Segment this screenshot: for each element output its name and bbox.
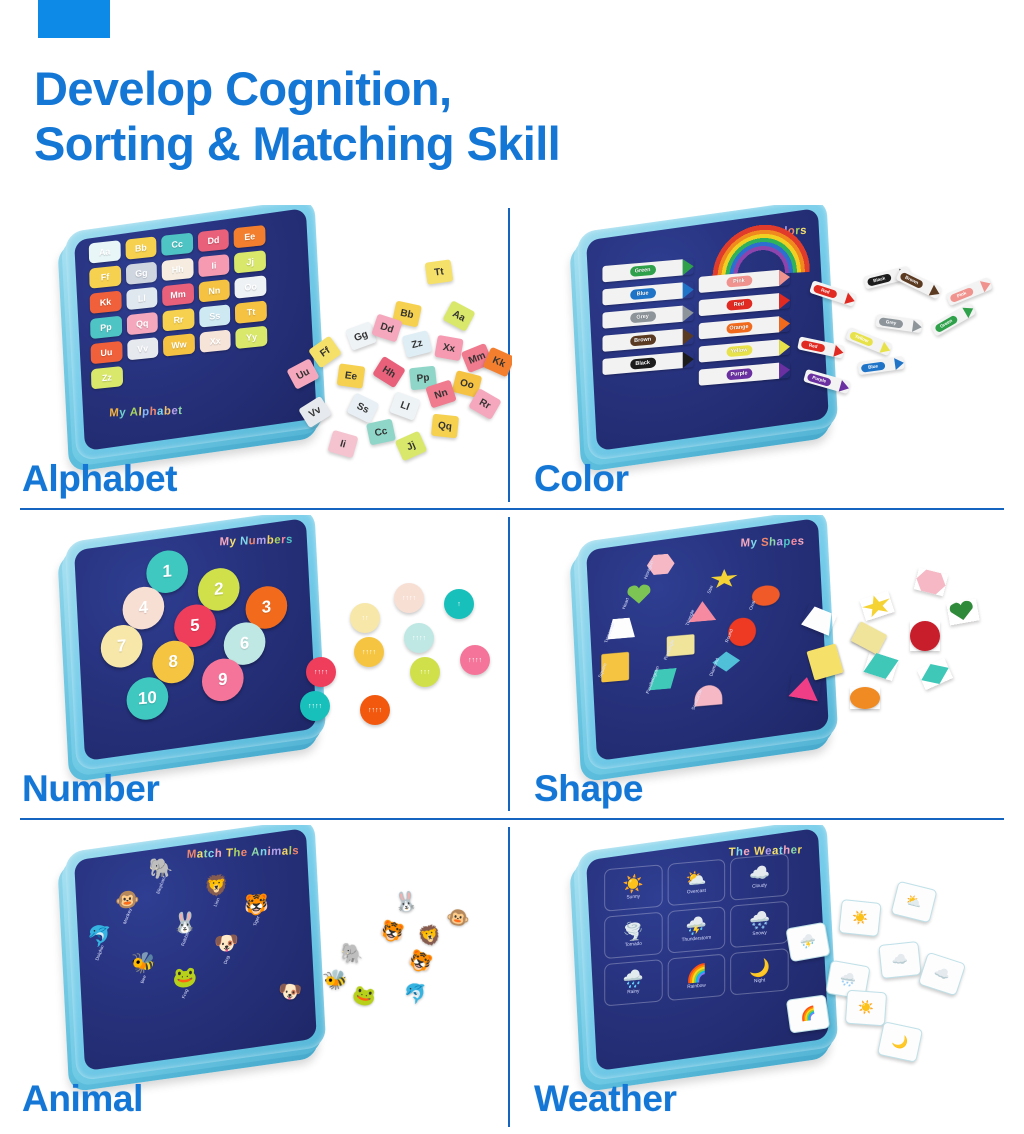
shape-heart[interactable]: Heart (625, 583, 653, 606)
weather-icon: ☀️ (623, 875, 644, 894)
alphabet-tile[interactable]: Ss (199, 304, 231, 327)
weather-icon: 🌈 (686, 964, 707, 983)
loose-letter-tile[interactable]: Ee (337, 363, 366, 388)
loose-counting-disc[interactable]: ↑↑↑↑ (404, 623, 434, 653)
loose-crayon[interactable]: Yellow (845, 327, 893, 356)
panel-caption-weather: Weather (534, 1078, 677, 1120)
crayon-label-band: Red (726, 298, 752, 310)
loose-counting-disc[interactable]: ↑↑↑↑ (354, 637, 384, 667)
alphabet-tile[interactable]: Oo (235, 275, 267, 298)
crayon-tip (894, 356, 905, 369)
panel-shape: ShapeMy ShapesHexagonStarHeartOvalTriang… (512, 515, 1024, 824)
loose-counting-disc[interactable]: ↑↑↑↑ (360, 695, 390, 725)
crayon-body: Red (699, 293, 779, 316)
title-line-2: Sorting & Matching Skill (34, 117, 814, 172)
loose-shape-piece[interactable] (851, 621, 888, 655)
crayon-black[interactable]: Black (602, 351, 693, 375)
alphabet-tile[interactable]: Uu (91, 341, 123, 364)
panel-caption-alphabet: Alphabet (22, 458, 177, 500)
crayon-body: Grey (602, 306, 682, 329)
loose-animal-piece[interactable]: 🦁 (416, 925, 443, 949)
alphabet-tile[interactable]: Ll (126, 287, 158, 310)
crayon-label-band: Blue (630, 288, 656, 300)
shape-diamond[interactable]: Diamond (712, 650, 740, 673)
weather-label: Rainy (627, 989, 639, 995)
alphabet-tile[interactable]: Ii (198, 254, 230, 277)
panel-number: NumberMy Numbers12345678910↑↑↑↑↑↑↑↑↑↑↑↑↑… (0, 515, 512, 824)
animal-frog[interactable]: 🐸Frog (173, 967, 198, 997)
crayon-tip (980, 277, 993, 291)
product-infographic: Develop Cognition, Sorting & Matching Sk… (0, 0, 1024, 1134)
crayon-label-band: Blue (861, 361, 886, 372)
weather-thunderstorm[interactable]: ⛈️Thunderstorm (667, 906, 725, 953)
panel-caption-shape: Shape (534, 768, 643, 810)
loose-letter-tile[interactable]: Ii (327, 430, 358, 458)
loose-counting-disc[interactable]: ↑↑ (350, 603, 380, 633)
alphabet-tile[interactable]: Nn (199, 279, 231, 302)
weather-icon: 🌧️ (623, 970, 644, 989)
panel-caption-color: Color (534, 458, 629, 500)
number-circle-grid: 12345678910 (95, 540, 284, 723)
loose-weather-card[interactable]: ☁️ (918, 952, 967, 997)
loose-animal-piece[interactable]: 🐯 (405, 949, 434, 975)
alphabet-tile[interactable]: Bb (125, 236, 157, 259)
weather-label: Tornado (625, 942, 642, 949)
loose-animal-piece[interactable]: 🐝 (322, 968, 350, 993)
crayon-body: Brown (602, 329, 682, 352)
weather-board: ☀️Sunny⛅Overcast☁️Cloudy🌪️Tornado⛈️Thund… (604, 853, 789, 1006)
alphabet-tile[interactable]: Tt (235, 300, 267, 323)
alphabet-tile[interactable]: Ff (89, 265, 121, 288)
crayon-label-band: Purple (807, 372, 832, 386)
alphabet-tile[interactable]: Pp (90, 316, 122, 339)
loose-letter-tile[interactable]: Ss (346, 392, 379, 423)
weather-label: Rainbow (687, 984, 706, 991)
weather-icon: ☁️ (749, 864, 770, 883)
loose-letter-tile[interactable]: Uu (286, 358, 319, 390)
alphabet-tile[interactable]: Qq (126, 312, 158, 335)
crayon-tip (683, 281, 694, 298)
alphabet-tile[interactable]: Mm (162, 283, 194, 306)
loose-letter-tile[interactable]: Hh (372, 356, 406, 388)
crayon-yellow[interactable]: Yellow (699, 339, 790, 363)
loose-crayon[interactable]: Red (797, 336, 845, 358)
animal-dog[interactable]: 🐶Dog (214, 933, 239, 963)
loose-crayon[interactable]: Green (930, 302, 976, 336)
loose-weather-card[interactable]: 🌈 (786, 994, 830, 1033)
crayon-label-band: Grey (630, 311, 656, 323)
crayon-tip (683, 351, 694, 368)
weather-tornado[interactable]: 🌪️Tornado (604, 912, 662, 959)
crayon-label-band: Grey (879, 317, 904, 328)
crayon-label-band: Orange (726, 322, 752, 334)
panel-caption-animal: Animal (22, 1078, 143, 1120)
weather-icon: 🌪️ (623, 922, 644, 941)
weather-icon: ⛅ (686, 869, 707, 888)
panel-caption-number: Number (22, 768, 159, 810)
loose-counting-disc[interactable]: ↑↑↑ (410, 657, 440, 687)
loose-letter-tile[interactable]: Qq (431, 414, 459, 439)
crayon-label-band: Green (630, 265, 656, 277)
crayon-body: Black (602, 352, 682, 375)
weather-icon: 🌨️ (749, 911, 770, 930)
crayon-purple[interactable]: Purple (699, 362, 790, 386)
loose-crayon[interactable]: Blue (857, 356, 904, 375)
weather-sunny[interactable]: ☀️Sunny (604, 864, 662, 911)
panel-animal: AnimalMatch The Animals🐘Elephant🦁Lion🐵Mo… (0, 825, 512, 1134)
alphabet-tile-grid: AaBbCcDdEeFfGgHhIiJjKkLlMmNnOoPpQqRrSsTt… (89, 225, 268, 390)
loose-pieces-weather: ⛈️☀️⛅☁️🌨️☁️🌈☀️🌙 (788, 875, 1018, 1090)
shape-board: HexagonStarHeartOvalTriangleTrapezoidRou… (601, 541, 795, 739)
alphabet-tile[interactable]: Ee (234, 225, 266, 248)
loose-animal-piece[interactable]: 🐯 (378, 920, 406, 945)
loose-weather-card[interactable]: ☁️ (878, 941, 921, 979)
crayon-tip (912, 320, 923, 333)
loose-crayon[interactable]: Brown (895, 268, 942, 300)
crayon-tip (833, 345, 844, 359)
animal-bee[interactable]: 🐝Bee (131, 952, 156, 982)
loose-shape-piece[interactable] (917, 658, 953, 690)
title-line-1: Develop Cognition, (34, 62, 451, 115)
loose-letter-tile[interactable]: Ll (389, 391, 421, 421)
animal-elephant[interactable]: 🐘Elephant (149, 858, 174, 888)
crayon-red[interactable]: Red (699, 292, 790, 316)
alphabet-tile[interactable]: Zz (91, 366, 123, 389)
alphabet-tile[interactable]: Yy (236, 326, 268, 349)
crayon-tip (962, 303, 976, 318)
alphabet-tile[interactable]: Aa (89, 240, 121, 263)
weather-rainbow[interactable]: 🌈Rainbow (667, 954, 725, 1001)
loose-letter-tile[interactable]: Vv (298, 396, 332, 428)
shape-label: Diamond (708, 657, 719, 676)
loose-weather-card[interactable]: ☀️ (845, 990, 887, 1027)
page-title: Develop Cognition, Sorting & Matching Sk… (34, 62, 814, 172)
loose-letter-tile[interactable]: Aa (442, 300, 475, 332)
weather-cloudy[interactable]: ☁️Cloudy (730, 853, 788, 900)
weather-label: Night (754, 978, 765, 984)
crayon-tip (880, 341, 893, 355)
loose-crayon[interactable]: Purple (803, 369, 851, 394)
loose-letter-tile[interactable]: Tt (425, 259, 454, 284)
feature-grid: AlphabetMy AlphabetAaBbCcDdEeFfGgHhIiJjK… (0, 205, 1024, 1134)
shape-square[interactable]: Square (601, 652, 629, 683)
crayon-body: Blue (602, 282, 682, 305)
crayon-label-band: Red (813, 284, 838, 299)
loose-animal-piece[interactable]: 🐵 (445, 907, 472, 930)
weather-label: Snowy (752, 931, 766, 937)
crayon-label-band: Black (630, 357, 656, 369)
shape-rectangle[interactable]: Rectangle (667, 634, 695, 657)
loose-pieces-number: ↑↑↑↑↑↑↑↑↑↑↑↑↑↑↑↑↑↑↑↑↑↑↑↑↑↑↑↑↑↑↑↑↑↑ (276, 565, 506, 780)
shape-triangle[interactable]: Triangle (689, 600, 717, 623)
alphabet-tile[interactable]: Hh (162, 258, 194, 281)
number-circle[interactable]: 9 (202, 657, 244, 703)
crayon-label-band: Pink (949, 286, 974, 302)
shape-star[interactable]: Star (710, 568, 738, 591)
weather-snowy[interactable]: 🌨️Snowy (730, 901, 788, 948)
loose-counting-disc[interactable]: ↑↑↑↑ (300, 691, 330, 721)
weather-rainy[interactable]: 🌧️Rainy (604, 959, 662, 1006)
crayon-label-band: Red (801, 339, 826, 352)
crayon-label-band: Yellow (849, 330, 874, 346)
alphabet-tile[interactable]: Kk (90, 291, 122, 314)
loose-shape-piece[interactable] (863, 651, 898, 681)
shape-oval[interactable]: Oval (752, 584, 780, 607)
loose-shape-piece[interactable] (806, 643, 843, 680)
crayon-tip (844, 292, 856, 306)
loose-crayon[interactable]: Grey (875, 314, 922, 333)
alphabet-tile[interactable]: Xx (199, 329, 231, 352)
crayon-body: Orange (699, 316, 779, 339)
loose-animal-piece[interactable]: 🐰 (393, 891, 419, 913)
loose-letter-tile[interactable]: Ff (308, 336, 342, 369)
crayon-label-band: Brown (899, 271, 924, 289)
shape-label: Star (706, 585, 714, 595)
shape-parallelogram[interactable]: Parallelogram (649, 668, 677, 691)
weather-overcast[interactable]: ⛅Overcast (667, 859, 725, 906)
weather-night[interactable]: 🌙Night (730, 948, 788, 995)
loose-weather-card[interactable]: ⛅ (890, 881, 937, 924)
alphabet-tile[interactable]: Gg (125, 262, 157, 285)
loose-letter-tile[interactable]: Xx (434, 335, 463, 361)
panel-alphabet: AlphabetMy AlphabetAaBbCcDdEeFfGgHhIiJjK… (0, 205, 512, 514)
loose-shape-piece[interactable] (914, 568, 948, 597)
loose-counting-disc[interactable]: ↑↑↑↑ (394, 583, 424, 613)
loose-shape-piece[interactable] (788, 675, 821, 702)
crayon-label-band: Brown (630, 334, 656, 346)
loose-shape-piece[interactable] (850, 687, 880, 709)
shape-hexagon[interactable]: Hexagon (647, 553, 675, 576)
alphabet-tile[interactable]: Rr (163, 308, 195, 331)
crayon-column: GreenBlueGreyBrownBlack (602, 258, 693, 382)
crayon-label-band: Green (934, 314, 959, 333)
weather-label: Thunderstorm (682, 936, 712, 944)
loose-counting-disc[interactable]: ↑↑↑↑ (460, 645, 490, 675)
animal-monkey[interactable]: 🐵Monkey (115, 889, 140, 919)
shape-label: Oval (748, 600, 756, 611)
animal-board: 🐘Elephant🦁Lion🐵Monkey🐯Tiger🐬Dolphin🐰Rabb… (87, 848, 285, 1052)
loose-counting-disc[interactable]: ↑ (444, 589, 474, 619)
shape-trapezoid[interactable]: Trapezoid (607, 617, 635, 640)
alphabet-tile[interactable]: Ww (163, 333, 195, 356)
animal-rabbit[interactable]: 🐰Rabbit (173, 913, 198, 943)
crayon-column: PinkRedOrangeYellowPurple (699, 269, 790, 393)
loose-animal-piece[interactable]: 🐶 (277, 982, 303, 1003)
accent-bar (38, 0, 110, 38)
shape-label: Heart (621, 597, 630, 609)
crayon-grey[interactable]: Grey (602, 305, 693, 329)
loose-shape-piece[interactable] (801, 604, 837, 636)
loose-shape-piece[interactable] (859, 591, 894, 621)
loose-pieces-shape (788, 565, 1018, 780)
crayon-label-band: Pink (726, 275, 752, 287)
weather-icon: ⛈️ (686, 917, 707, 936)
book-page-title: My Alphabet (109, 405, 183, 420)
shape-round[interactable]: Round (728, 617, 756, 648)
crayon-label-band: Black (867, 273, 892, 287)
loose-letter-tile[interactable]: Gg (345, 321, 377, 351)
alphabet-tile[interactable]: Cc (161, 233, 193, 256)
animal-tiger[interactable]: 🐯Tiger (244, 894, 269, 924)
panel-color: ColorMy ColorsGreenBlueGreyBrownBlackPin… (512, 205, 1024, 514)
alphabet-tile[interactable]: Jj (234, 250, 266, 273)
shape-semicircle[interactable]: Semicircle (695, 684, 723, 707)
loose-animal-piece[interactable]: 🐸 (350, 984, 378, 1008)
loose-animal-piece[interactable]: 🐘 (339, 943, 365, 965)
crayon-body: Green (602, 259, 682, 282)
crayon-green[interactable]: Green (602, 258, 693, 282)
loose-weather-card[interactable]: ⛈️ (785, 922, 830, 962)
crayon-label-band: Yellow (726, 345, 752, 357)
animal-dolphin[interactable]: 🐬Dolphin (87, 926, 112, 956)
crayon-tip (839, 380, 851, 394)
alphabet-tile[interactable]: Dd (198, 229, 230, 252)
loose-shape-piece[interactable] (910, 621, 940, 651)
loose-crayon[interactable]: Pink (945, 277, 993, 306)
number-circle[interactable]: 4 (123, 585, 165, 631)
loose-pieces-alphabet: TtBbAaGgDdFfZzXxMmKkUuEeHhPpOoNnLlVvSsCc… (276, 255, 506, 470)
loose-weather-card[interactable]: ☀️ (838, 899, 881, 937)
crayon-tip (929, 284, 942, 299)
crayon-tip (683, 305, 694, 322)
weather-icon: 🌙 (749, 959, 770, 978)
crayon-body: Yellow (699, 339, 779, 362)
weather-label: Overcast (687, 889, 706, 896)
panel-weather: WeatherThe Weather☀️Sunny⛅Overcast☁️Clou… (512, 825, 1024, 1134)
weather-label: Sunny (627, 894, 640, 900)
weather-label: Cloudy (752, 883, 767, 889)
loose-letter-tile[interactable]: Cc (366, 419, 396, 446)
number-circle[interactable]: 10 (127, 676, 169, 722)
number-circle[interactable]: 7 (101, 623, 143, 669)
loose-weather-card[interactable]: 🌙 (877, 1021, 923, 1063)
loose-counting-disc[interactable]: ↑↑↑↑ (306, 657, 336, 687)
alphabet-tile[interactable]: Vv (127, 337, 159, 360)
animal-lion[interactable]: 🦁Lion (204, 875, 229, 905)
loose-shape-piece[interactable] (946, 599, 979, 626)
loose-pieces-animal: 🐰🐵🐯🦁🐘🐯🐝🐶🐸🐬 (276, 875, 506, 1090)
crayon-tip (683, 328, 694, 345)
loose-crayon[interactable]: Red (809, 280, 857, 307)
crayon-brown[interactable]: Brown (602, 328, 693, 352)
loose-pieces-color: RedBlackBrownPinkGreyGreenRedYellowBlueP… (788, 255, 1018, 470)
number-circle[interactable]: 8 (152, 639, 194, 685)
loose-animal-piece[interactable]: 🐬 (403, 984, 429, 1005)
crayon-blue[interactable]: Blue (602, 281, 693, 305)
crayon-label-band: Purple (726, 368, 752, 380)
loose-letter-tile[interactable]: Zz (402, 330, 433, 358)
crayon-orange[interactable]: Orange (699, 315, 790, 339)
loose-letter-tile[interactable]: Jj (395, 431, 428, 462)
crayon-body: Purple (699, 363, 779, 386)
crayon-tip (683, 258, 694, 275)
